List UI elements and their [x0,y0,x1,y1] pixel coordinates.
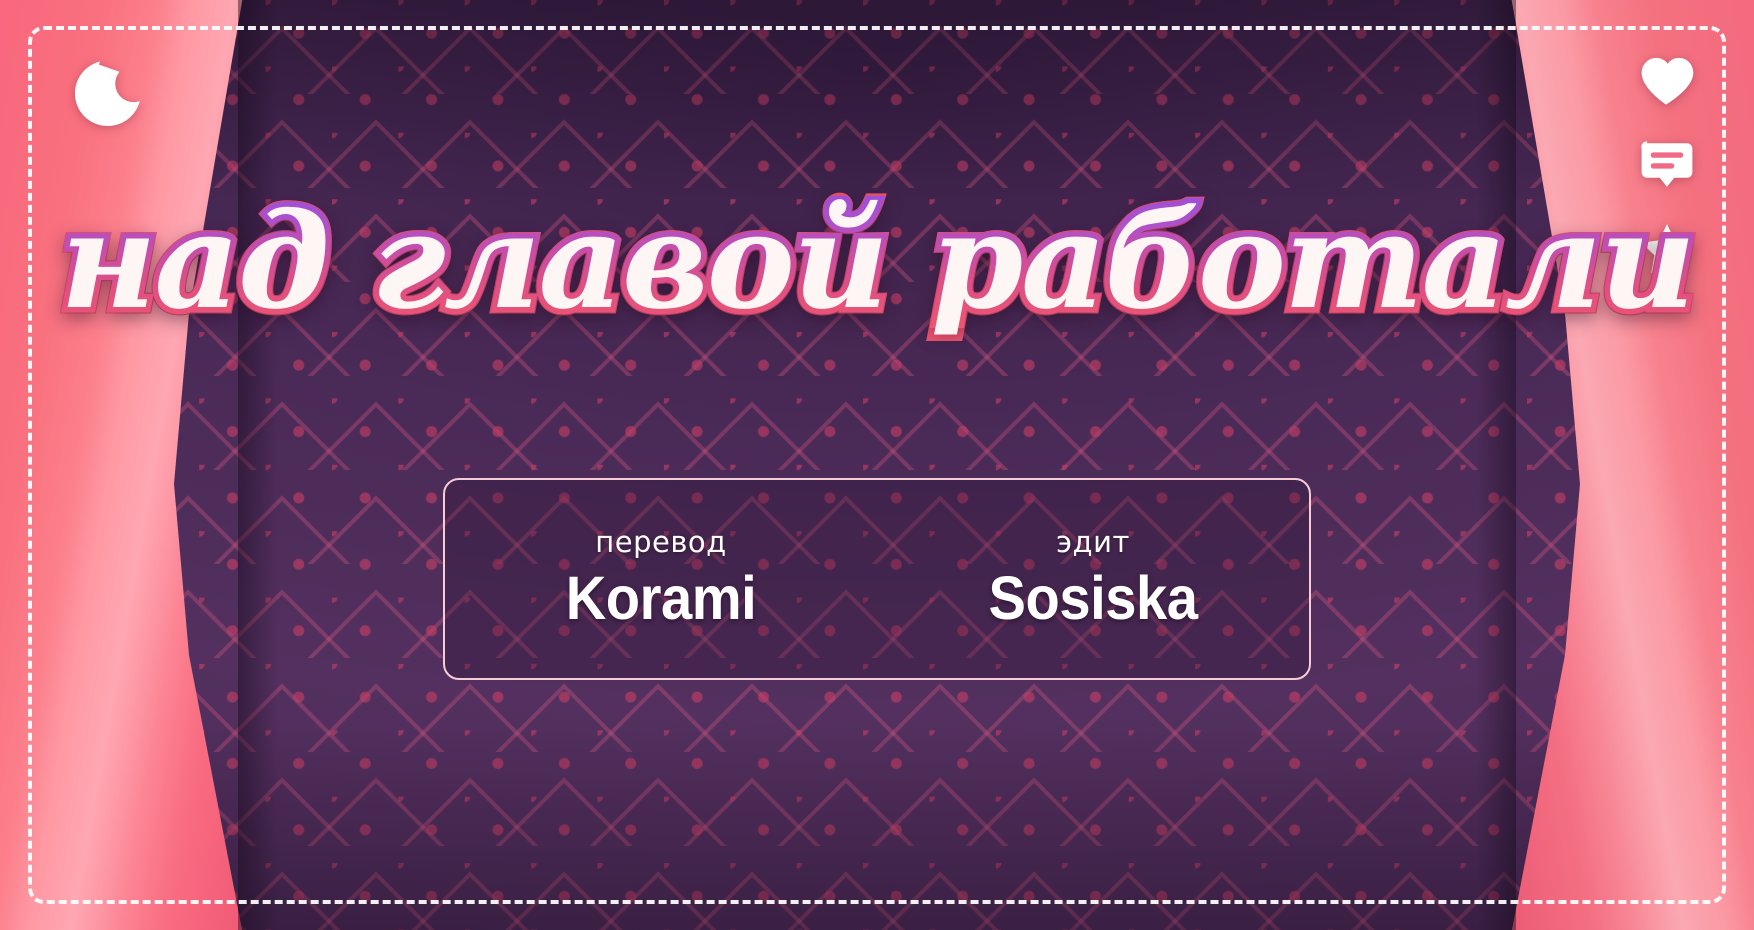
credit-entry-translator: перевод Korami [445,525,877,633]
credit-name-value: Sosiska [894,563,1291,633]
credits-page: над главой работали над главой работали … [0,0,1754,930]
heart-icon[interactable] [1638,52,1696,110]
dashed-frame [28,26,1726,904]
credit-role-label: перевод [445,525,877,559]
credit-entry-editor: эдит Sosiska [877,525,1309,633]
credit-role-label: эдит [877,525,1309,559]
title-text: над главой работали [60,184,1694,339]
page-title: над главой работали над главой работали … [50,196,1704,328]
title-block: над главой работали над главой работали … [0,196,1754,328]
crescent-moon-icon[interactable] [68,55,142,129]
credit-name-value: Korami [462,563,859,633]
credits-box: перевод Korami эдит Sosiska [443,478,1311,680]
